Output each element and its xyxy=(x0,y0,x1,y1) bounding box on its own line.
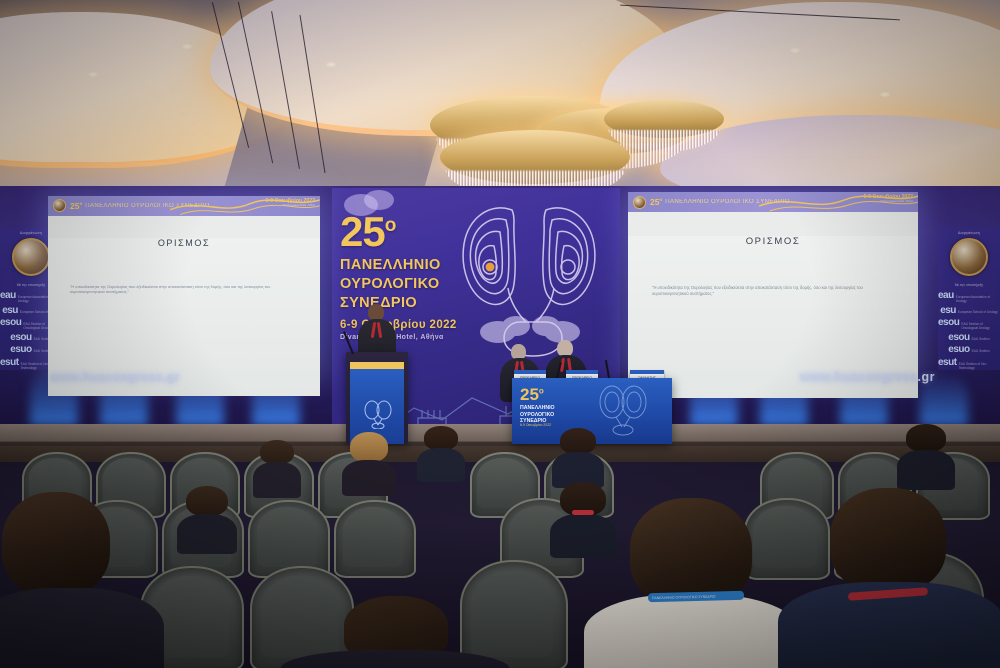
slide-title: ΟΡΙΣΜΟΣ xyxy=(628,236,918,247)
audience-head xyxy=(350,432,388,462)
slide-quote: "Η υποειδικότητα της Ουρολογίας που εξει… xyxy=(70,284,298,296)
banner-subcaption: Με την υποστήριξη xyxy=(938,283,1000,287)
audience-head xyxy=(906,424,946,452)
audience-member-blonde xyxy=(350,432,388,494)
audience-head xyxy=(630,498,752,606)
recessed-downlight xyxy=(88,72,98,77)
audience-shoulders xyxy=(0,588,164,668)
speaker-podium xyxy=(346,352,408,444)
audience-member-foreground-right xyxy=(808,488,968,668)
table-kidney-graphic xyxy=(596,384,648,438)
congress-name-line2: ΟΥΡΟΛΟΓΙΚΟ xyxy=(340,277,490,292)
audience-member xyxy=(424,426,458,478)
slide-title: ΟΡΙΣΜΟΣ xyxy=(48,238,320,248)
slide-header-strip: 25o ΠΑΝΕΛΛΗΝΙΟ ΟΥΡΟΛΟΓΙΚΟ ΣΥΝΕΔΡΙΟ 6-9 Ο… xyxy=(628,192,918,212)
sponsor-logo: esouEAU Section xyxy=(938,332,1000,343)
audience-member xyxy=(260,440,294,494)
sponsor-logo: esutEAU Section of Uro-Technology xyxy=(938,357,1000,370)
recessed-downlight xyxy=(326,62,336,67)
sponsor-logo: esouEAU Section of Oncological Urology xyxy=(938,317,1000,330)
audience-head xyxy=(830,488,946,592)
audience-head xyxy=(2,492,110,596)
gold-swoosh-decoration xyxy=(170,196,320,216)
audience-member-foreground-center xyxy=(600,498,780,668)
sponsor-logo: esuEuropean School of Urology xyxy=(938,305,1000,316)
audience-member xyxy=(186,486,228,548)
chandelier-ring-front xyxy=(440,130,630,188)
gold-swoosh-decoration xyxy=(759,192,919,212)
congress-name-line1: ΠΑΝΕΛΛΗΝΙΟ xyxy=(340,258,490,273)
sponsor-logo: eauEuropean Association of Urology xyxy=(938,290,1000,303)
audience-member-foreground-lower xyxy=(300,596,490,668)
congress-seal-icon xyxy=(633,196,646,209)
recessed-downlight xyxy=(790,48,800,53)
sponsor-banner-right: Διοργάνωση Με την υποστήριξη eauEuropean… xyxy=(938,228,1000,370)
audience-shoulders xyxy=(897,450,955,490)
audience-member xyxy=(560,428,596,484)
congress-website-left: www.huacongress.gr xyxy=(50,370,180,384)
recessed-downlight xyxy=(880,92,890,97)
audience-shoulders xyxy=(253,462,302,498)
projection-screen-right: 25o ΠΑΝΕΛΛΗΝΙΟ ΟΥΡΟΛΟΓΙΚΟ ΣΥΝΕΔΡΙΟ 6-9 Ο… xyxy=(628,192,918,374)
audience-lanyard-red xyxy=(572,510,594,515)
audience-head xyxy=(260,440,294,464)
slide-quote: "Η υποειδικότητα της Ουρολογίας που εξει… xyxy=(652,285,894,297)
banner-caption: Διοργάνωση xyxy=(938,231,1000,235)
audience-shoulders xyxy=(417,448,466,482)
slide-header-number: 25o xyxy=(70,201,82,211)
podium-kidney-icon xyxy=(362,399,394,429)
recessed-downlight xyxy=(182,44,192,49)
society-seal-icon xyxy=(12,238,50,276)
congress-website-right: www.huacongress.gr xyxy=(800,370,935,384)
audience-shoulders xyxy=(280,650,510,668)
conference-hall-photo: 25o ΠΑΝΕΛΛΗΝΙΟ ΟΥΡΟΛΟΓΙΚΟ ΣΥΝΕΔΡΙΟ 6-9 Ο… xyxy=(0,0,1000,668)
audience-member-foreground-left xyxy=(0,492,126,668)
projection-screen-left: 25o ΠΑΝΕΛΛΗΝΙΟ ΟΥΡΟΛΟΓΙΚΟ ΣΥΝΕΔΡΙΟ 6-9 Ο… xyxy=(48,196,320,374)
sponsor-logo: esuoEAU Section xyxy=(938,344,1000,355)
congress-number: 25o xyxy=(340,210,490,254)
audience-shoulders xyxy=(584,594,800,668)
cloud-shape xyxy=(364,190,394,210)
audience-head xyxy=(424,426,458,450)
table-congress-number: 25o xyxy=(520,386,544,403)
audience-shoulders xyxy=(177,514,237,554)
society-seal-icon xyxy=(950,238,988,276)
chair xyxy=(248,500,326,574)
audience-head xyxy=(186,486,228,516)
chair xyxy=(334,500,412,574)
audience-member xyxy=(906,424,946,484)
table-congress-date: 6-9 Οκτωβρίου 2022 xyxy=(520,423,551,427)
table-congress-name: ΠΑΝΕΛΛΗΝΙΟ ΟΥΡΟΛΟΓΙΚΟ ΣΥΝΕΔΡΙΟ xyxy=(520,405,555,425)
slide-header-number: 25o xyxy=(650,197,662,207)
audience-shoulders xyxy=(342,460,397,496)
slide-header-strip: 25o ΠΑΝΕΛΛΗΝΙΟ ΟΥΡΟΛΟΓΙΚΟ ΣΥΝΕΔΡΙΟ 6-9 Ο… xyxy=(48,196,320,216)
audience-head xyxy=(560,428,596,454)
congress-seal-icon xyxy=(53,199,66,212)
